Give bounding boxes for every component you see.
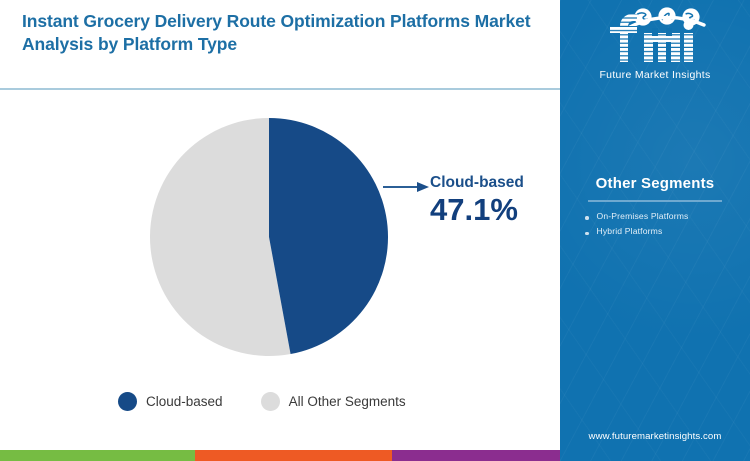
list-item: Hybrid Platforms — [585, 226, 732, 238]
fmi-logo[interactable]: Future Market Insights — [560, 6, 750, 81]
other-segments-panel: Other Segments On-Premises Platforms Hyb… — [560, 175, 750, 242]
pie-chart — [150, 118, 388, 356]
website-url[interactable]: www.futuremarketinsights.com — [560, 431, 750, 442]
legend-color-swatch — [261, 392, 280, 411]
callout: Cloud-based 47.1% — [430, 174, 555, 228]
other-segments-title: Other Segments — [578, 175, 732, 192]
bullet-icon — [585, 232, 589, 236]
callout-label: Cloud-based — [430, 174, 555, 191]
bullet-icon — [585, 216, 589, 220]
bottom-color-bar — [0, 450, 560, 461]
legend-color-swatch — [118, 392, 137, 411]
header-divider — [0, 88, 560, 90]
callout-value: 47.1% — [430, 192, 555, 228]
bottom-bar-segment-green — [0, 450, 195, 461]
other-segment-label: Hybrid Platforms — [597, 226, 663, 238]
bottom-bar-segment-purple — [392, 450, 560, 461]
chart-content-area: Instant Grocery Delivery Route Optimizat… — [0, 0, 560, 461]
bottom-bar-segment-orange — [195, 450, 392, 461]
list-item: On-Premises Platforms — [585, 211, 732, 223]
legend-item-label: All Other Segments — [289, 394, 406, 409]
page-title: Instant Grocery Delivery Route Optimizat… — [22, 10, 532, 57]
side-panel: Future Market Insights Other Segments On… — [560, 0, 750, 461]
legend-item-all-other-segments[interactable]: All Other Segments — [261, 392, 406, 411]
other-segment-label: On-Premises Platforms — [597, 211, 689, 223]
pie-slice-cloud-based[interactable] — [269, 118, 388, 354]
legend-item-label: Cloud-based — [146, 394, 223, 409]
arrow-right-icon — [383, 180, 429, 194]
logo-tagline: Future Market Insights — [560, 69, 750, 81]
fmi-wordmark-icon — [580, 6, 730, 68]
legend-item-cloud-based[interactable]: Cloud-based — [118, 392, 223, 411]
pie-chart-svg — [150, 118, 388, 356]
other-segments-divider — [588, 200, 722, 202]
chart-legend: Cloud-based All Other Segments — [118, 392, 406, 411]
